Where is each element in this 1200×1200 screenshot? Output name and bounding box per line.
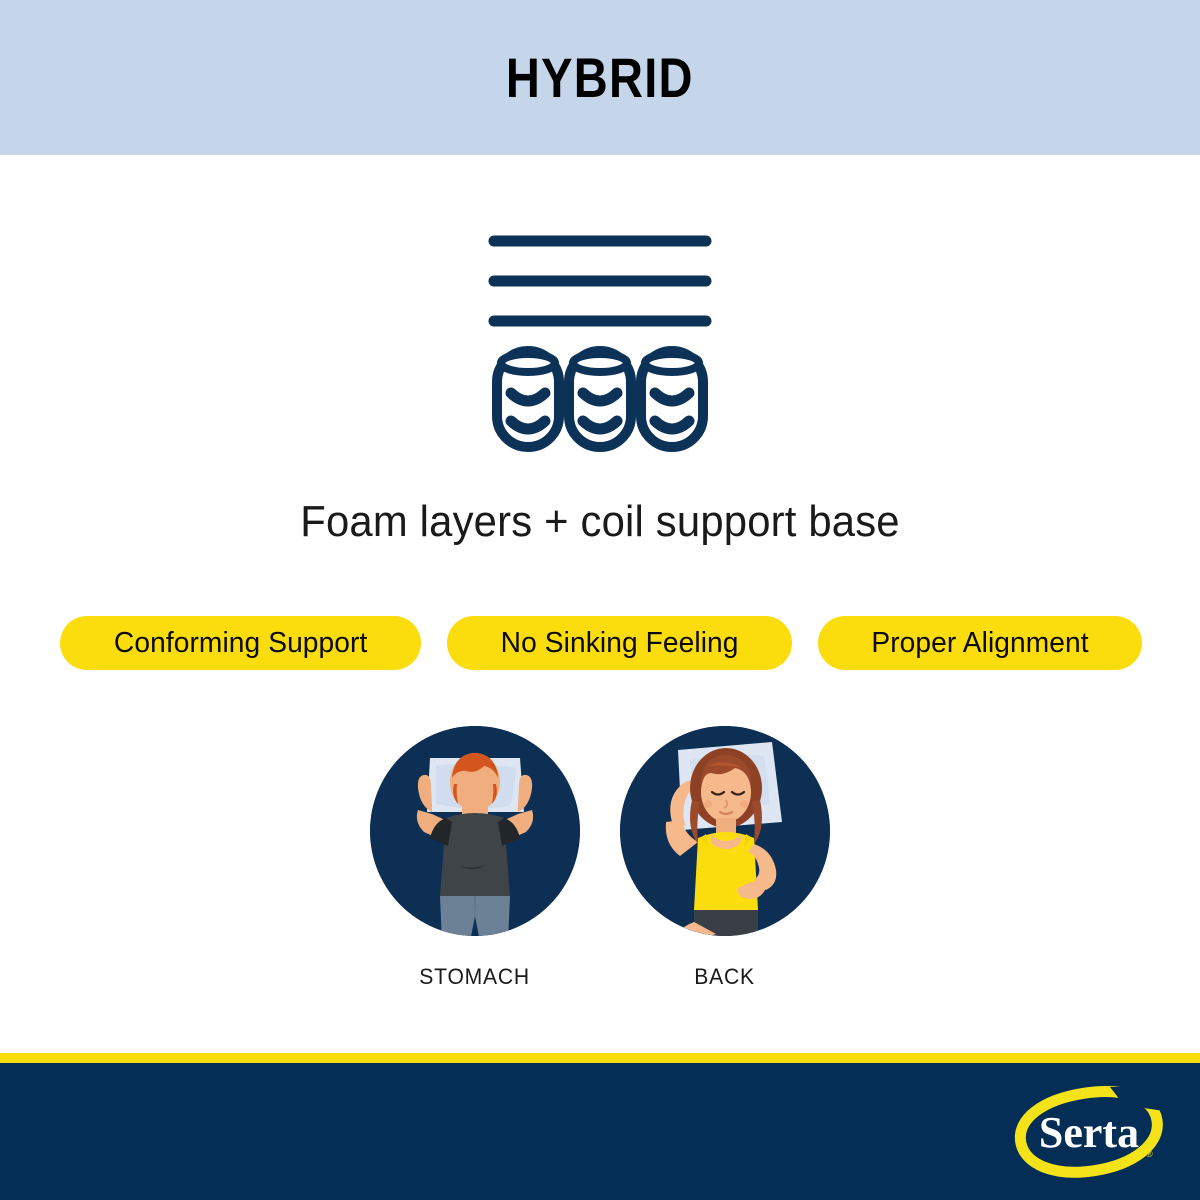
badge-label: No Sinking Feeling <box>501 627 739 660</box>
header-band: HYBRID <box>0 0 1200 155</box>
page-title: HYBRID <box>506 50 694 106</box>
stomach-sleeper-illustration <box>370 726 580 936</box>
serta-wordmark: Serta <box>1039 1108 1139 1157</box>
position-circle <box>620 726 830 936</box>
badge-label: Proper Alignment <box>871 627 1088 660</box>
serta-logo[interactable]: Serta ® <box>1014 1085 1164 1181</box>
serta-logo-mark: Serta ® <box>1014 1085 1164 1181</box>
position-circle <box>370 726 580 936</box>
support-coil-1 <box>497 351 559 447</box>
badge-no-sinking-feeling[interactable]: No Sinking Feeling <box>447 616 792 670</box>
badge-proper-alignment[interactable]: Proper Alignment <box>818 616 1142 670</box>
badge-conforming-support[interactable]: Conforming Support <box>60 616 421 670</box>
support-coil-3 <box>641 351 703 447</box>
position-label: BACK <box>695 964 756 990</box>
sleep-positions-row: STOMACH <box>0 726 1200 990</box>
registered-trademark-icon: ® <box>1146 1149 1153 1159</box>
back-sleeper-illustration <box>620 726 830 936</box>
position-label: STOMACH <box>420 964 531 990</box>
sleep-position-back[interactable]: BACK <box>620 726 830 990</box>
support-coil-2 <box>569 351 631 447</box>
badge-label: Conforming Support <box>114 627 367 660</box>
benefit-badge-row: Conforming Support No Sinking Feeling Pr… <box>60 616 1142 670</box>
hybrid-mattress-icon <box>480 223 720 453</box>
footer-accent-stripe <box>0 1053 1200 1063</box>
hybrid-icon-container <box>0 215 1200 460</box>
sleep-position-stomach[interactable]: STOMACH <box>370 726 580 990</box>
headline-text: Foam layers + coil support base <box>30 497 1170 547</box>
